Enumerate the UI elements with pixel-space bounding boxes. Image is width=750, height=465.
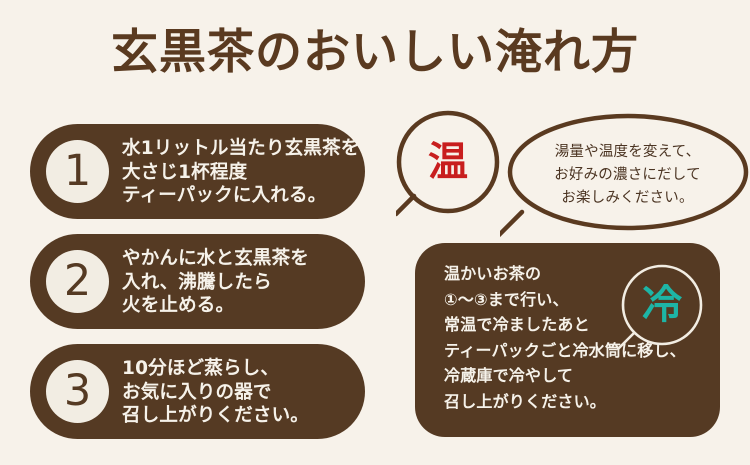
step-number-badge-1: 1	[46, 140, 109, 203]
step-text-line: ティーパックに入れる。	[122, 184, 355, 208]
hot-tip-line: お好みの濃さにだして	[530, 164, 725, 187]
infographic-canvas: 玄黒茶のおいしい淹れ方 1 水1リットル当たり玄黒茶を 大さじ1杯程度 ティーパ…	[0, 0, 750, 465]
hot-tip-line: 湯量や温度を変えて、	[530, 141, 725, 164]
step-card-3: 3 10分ほど蒸らし、 お気に入りの器で 召し上がりください。	[30, 344, 365, 439]
step-text-line: 入れ、沸騰したら	[122, 271, 355, 295]
hot-badge-label: 温	[396, 110, 500, 214]
step-text-line: やかんに水と玄黒茶を	[122, 247, 355, 271]
cold-brew-card: 温かいお茶の ①〜③まで行い、 常温で冷ましたあと ティーパックごと冷水筒に移し…	[415, 243, 720, 437]
step-text-3: 10分ほど蒸らし、 お気に入りの器で 召し上がりください。	[122, 357, 355, 428]
step-card-2: 2 やかんに水と玄黒茶を 入れ、沸騰したら 火を止める。	[30, 234, 365, 329]
step-text-line: 大さじ1杯程度	[122, 161, 355, 185]
cold-badge-label: 冷	[623, 266, 701, 344]
cold-brew-line: 冷蔵庫で冷やして	[444, 363, 686, 389]
step-text-2: やかんに水と玄黒茶を 入れ、沸騰したら 火を止める。	[122, 247, 355, 318]
step-text-line: 火を止める。	[122, 294, 355, 318]
step-text-line: 水1リットル当たり玄黒茶を	[122, 137, 355, 161]
hot-tip-bubble: 湯量や温度を変えて、 お好みの濃さにだして お楽しみください。	[500, 110, 750, 240]
step-text-1: 水1リットル当たり玄黒茶を 大さじ1杯程度 ティーパックに入れる。	[122, 137, 355, 208]
step-number-badge-3: 3	[46, 360, 109, 423]
step-text-line: 10分ほど蒸らし、	[122, 357, 355, 381]
hot-tip-line: お楽しみください。	[530, 187, 725, 210]
step-card-1: 1 水1リットル当たり玄黒茶を 大さじ1杯程度 ティーパックに入れる。	[30, 124, 365, 219]
step-text-line: お気に入りの器で	[122, 381, 355, 405]
step-number-badge-2: 2	[46, 250, 109, 313]
page-title: 玄黒茶のおいしい淹れ方	[0, 24, 750, 82]
hot-tip-text: 湯量や温度を変えて、 お好みの濃さにだして お楽しみください。	[530, 141, 725, 210]
hot-magnifier-icon: 温	[396, 110, 516, 232]
step-text-line: 召し上がりください。	[122, 404, 355, 428]
cold-magnifier-icon: 冷	[601, 254, 713, 366]
cold-brew-line: 召し上がりください。	[444, 389, 686, 415]
